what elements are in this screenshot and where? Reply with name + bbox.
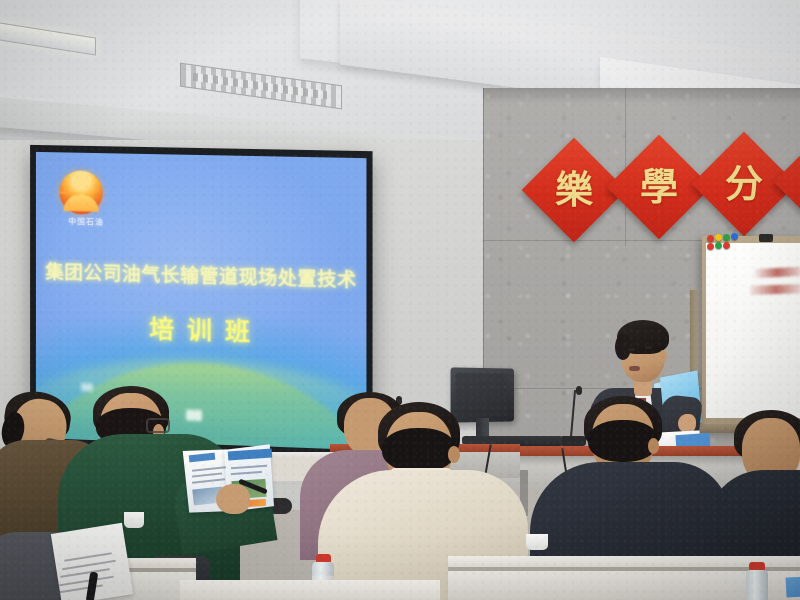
magnet-green-icon[interactable] [715, 242, 722, 249]
whiteboard-clip-icon[interactable] [759, 234, 773, 242]
projection-screen-frame: 中国石油 集团公司油气长输管道现场处置技术 培训班 [30, 145, 373, 459]
placard-character: 樂 [555, 171, 593, 209]
monitor-back-panel [456, 373, 508, 417]
magnet-red-icon[interactable] [707, 235, 714, 242]
attendee-cream-hair-back [382, 428, 456, 472]
attendee-suit-ear [648, 438, 659, 454]
magnet-red-icon[interactable] [723, 242, 730, 249]
whiteboard-handwriting [750, 284, 800, 295]
presenter-eye [645, 346, 652, 349]
attendee-suit-hair-back [588, 420, 658, 462]
microphone-base[interactable] [560, 436, 586, 446]
presenter-mouth [629, 366, 640, 371]
presenter-ear [659, 350, 667, 362]
placard-character: 學 [640, 168, 678, 206]
magnet-yellow-icon[interactable] [715, 234, 722, 241]
paper-cup[interactable] [526, 534, 548, 550]
attendee-green-hand [216, 484, 250, 514]
desk-center-foreground [180, 580, 440, 600]
training-seminar-photo: 中国石油 集团公司油气长输管道现场处置技术 培训班 樂 學 分 享 [0, 0, 800, 600]
presenter-eye [628, 348, 635, 351]
microphone-head-icon[interactable] [576, 386, 582, 395]
projection-screen: 中国石油 集团公司油气长输管道现场处置技术 培训班 [36, 152, 367, 450]
cnpc-logo: 中国石油 [52, 170, 121, 229]
magnet-blue-icon[interactable] [731, 233, 738, 240]
paper-cup[interactable] [124, 512, 144, 528]
logo-caption: 中国石油 [52, 216, 121, 229]
water-bottle[interactable] [746, 570, 768, 600]
stone-wall-top-shadow [483, 88, 800, 104]
attendee-cream-ear [448, 446, 460, 463]
magnet-green-icon[interactable] [723, 234, 730, 241]
placard-character: 分 [725, 165, 763, 203]
presenter-hair-side [615, 334, 631, 360]
eyeglasses-icon [146, 418, 170, 433]
blue-folder[interactable] [786, 574, 800, 597]
magnet-red-icon[interactable] [707, 243, 714, 250]
